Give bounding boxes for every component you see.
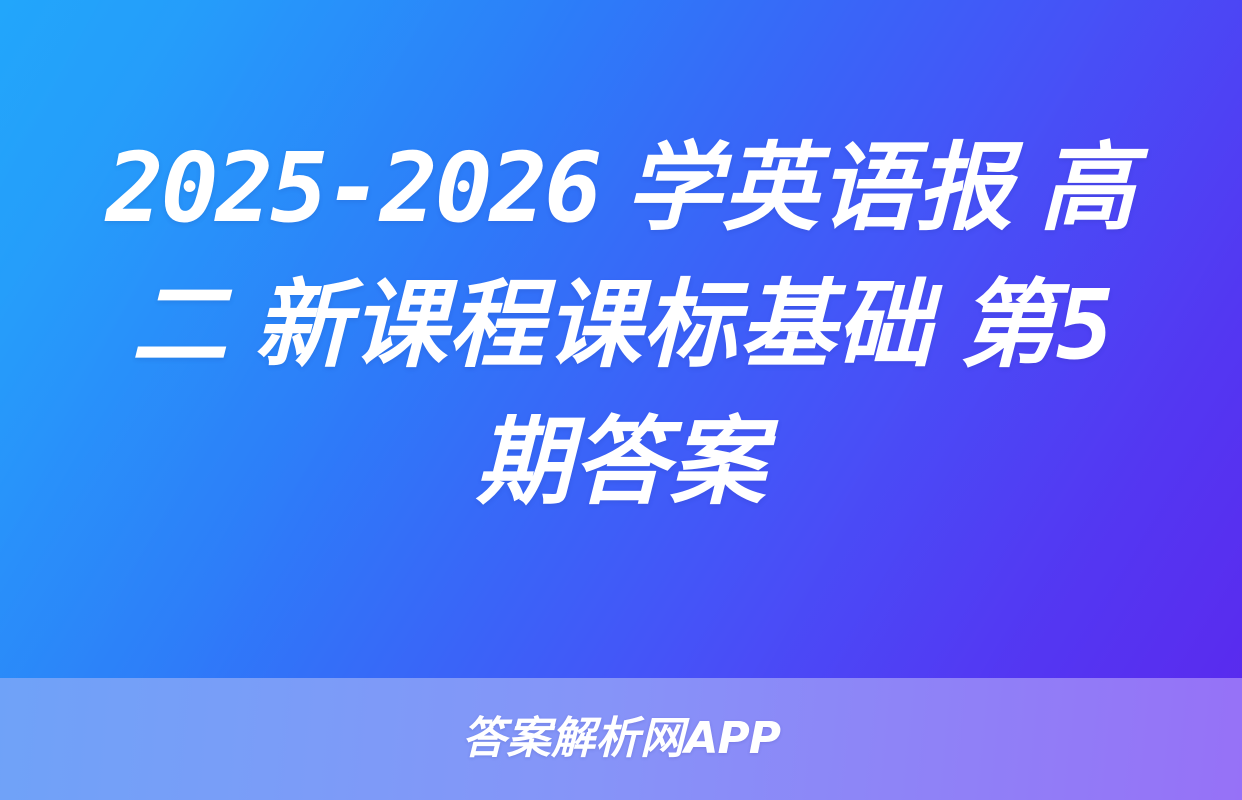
- answer-banner-card: 2025-2026学英语报高 二新课程课标基础第5 期答案 答案解析网APP: [0, 0, 1242, 800]
- title-line-2-curriculum: 新课程课标基础: [254, 269, 933, 381]
- title-line-3-answer-suffix: 期答案: [476, 406, 767, 518]
- watermark-site-name: 答案解析网: [462, 713, 685, 764]
- footer-strip: 答案解析网APP: [0, 678, 1242, 800]
- title-line-2-issue-prefix: 第: [959, 269, 1056, 381]
- title-block: 2025-2026学英语报高 二新课程课标基础第5 期答案: [0, 0, 1242, 678]
- title-line-1-publication: 学英语报: [625, 132, 1013, 244]
- title-line-2: 二新课程课标基础第5: [56, 257, 1186, 394]
- title-line-1: 2025-2026学英语报高: [56, 120, 1186, 257]
- title-line-2-issue-number: 5: [1056, 269, 1111, 381]
- watermark-brand: 答案解析网APP: [462, 717, 780, 761]
- title-line-1-years: 2025-2026: [106, 132, 599, 244]
- title-line-1-grade-prefix: 高: [1039, 132, 1136, 244]
- title-line-3: 期答案: [56, 394, 1186, 531]
- watermark-app-label: APP: [684, 713, 780, 764]
- title-line-2-grade-suffix: 二: [131, 269, 228, 381]
